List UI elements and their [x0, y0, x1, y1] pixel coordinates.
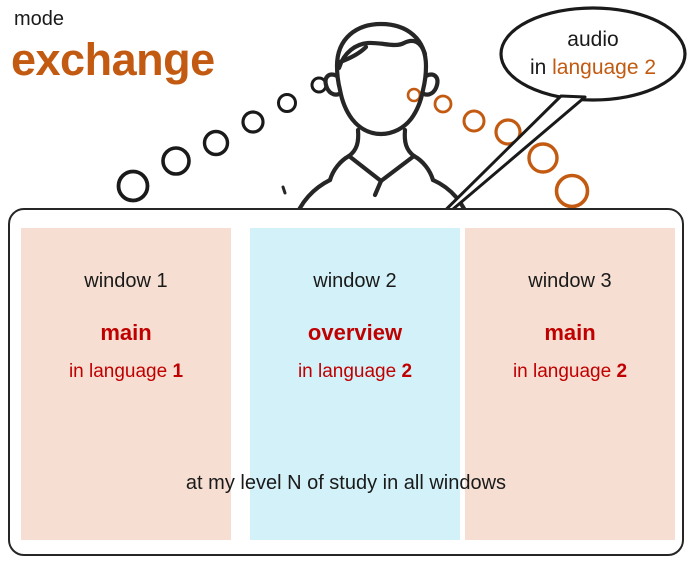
window-3-title: window 3 — [465, 270, 675, 293]
mode-label: mode — [14, 9, 64, 29]
speech-bubble-line-2-prefix: in — [530, 56, 552, 79]
window-2-language: in language 2 — [250, 361, 460, 383]
window-1-kind: main — [21, 320, 231, 346]
speech-bubble-line-1: audio — [500, 26, 686, 54]
diagram-canvas: mode exchange — [0, 0, 694, 564]
window-1-title: window 1 — [21, 270, 231, 293]
speech-bubble-text: audio in language 2 — [500, 26, 686, 83]
window-2-language-number: 2 — [401, 361, 412, 382]
mode-title: exchange — [11, 37, 215, 82]
window-3-language: in language 2 — [465, 361, 675, 383]
window-1-language-number: 1 — [172, 361, 183, 382]
black-circles-icon — [119, 78, 327, 201]
orange-circles-icon — [408, 89, 588, 207]
window-3-language-prefix: in language — [513, 361, 617, 382]
speech-bubble-line-2-accent: language 2 — [552, 56, 656, 79]
speech-bubble-line-2: in language 2 — [500, 54, 686, 82]
window-3-kind: main — [465, 320, 675, 346]
window-1-language-prefix: in language — [69, 361, 173, 382]
window-2-language-prefix: in language — [298, 361, 402, 382]
window-2-title: window 2 — [250, 270, 460, 293]
window-2-kind: overview — [250, 320, 460, 346]
windows-panel: window 1 main in language 1 window 2 ove… — [8, 208, 684, 556]
window-3-language-number: 2 — [616, 361, 627, 382]
window-1-language: in language 1 — [21, 361, 231, 383]
footer-note: at my level N of study in all windows — [10, 472, 682, 495]
